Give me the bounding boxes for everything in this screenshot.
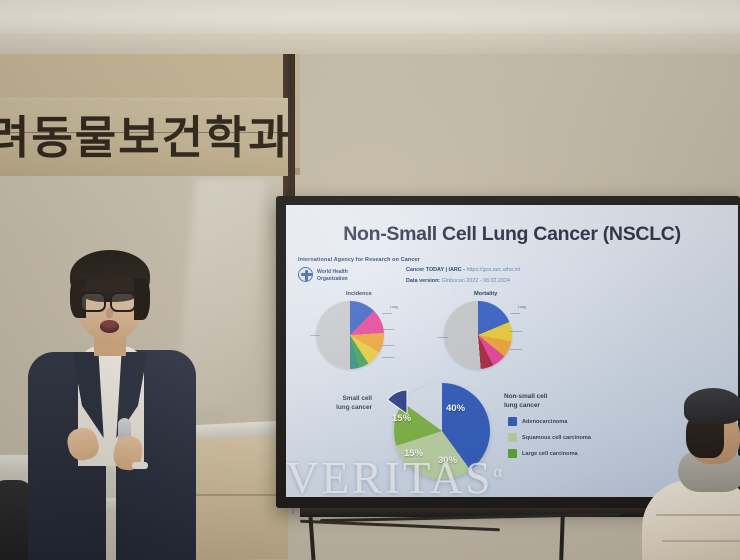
pie-value-squamous: 30% — [438, 455, 457, 466]
legend-color-swatch — [508, 433, 517, 442]
department-banner-text: 려동물보건학과 — [0, 115, 288, 160]
leader-line — [438, 337, 448, 338]
source-url: https://gco.iarc.who.int — [466, 267, 520, 273]
slide-title: Non-Small Cell Lung Cancer (NSCLC) — [296, 223, 728, 246]
leader-line — [510, 313, 520, 314]
leader-line — [510, 349, 522, 350]
presenter-eyebrow-right — [112, 287, 134, 290]
leader-line — [382, 357, 394, 358]
who-organization-name: World Health Organization — [317, 269, 348, 283]
jacket-seam — [662, 540, 740, 542]
jacket-seam — [656, 514, 740, 516]
pie-chart-incidence — [316, 301, 384, 369]
legend-color-swatch — [508, 417, 517, 426]
incidence-callout-lung: Lung — [390, 305, 398, 309]
presenter-eyebrow-left — [81, 287, 103, 290]
legend-item: Squamous cell carcinoma — [508, 433, 591, 442]
mortality-callout-lung: Lung — [518, 305, 526, 309]
chart-legend: AdenocarcinomaSquamous cell carcinomaLar… — [508, 417, 591, 465]
leader-line — [382, 313, 392, 314]
presenter-wristwatch — [132, 462, 148, 469]
glasses-bridge-icon — [106, 299, 111, 302]
leader-line — [310, 335, 320, 336]
presenter — [22, 240, 202, 560]
ceiling — [0, 0, 740, 38]
legend-item: Adenocarcinoma — [508, 417, 591, 426]
data-version-label: Data version: — [406, 278, 440, 284]
legend-label: Adenocarcinoma — [522, 419, 567, 425]
who-emblem-icon — [298, 267, 313, 282]
who-name-line1: World Health — [317, 269, 348, 276]
pie-value-large-cell: 15% — [404, 448, 423, 459]
presenter-nose — [106, 308, 113, 318]
leader-line — [382, 329, 394, 330]
audience-beanie — [684, 388, 740, 424]
chart-title-mortality: Mortality — [474, 291, 497, 297]
banner-wire — [0, 132, 292, 133]
legend-item: Large cell carcinoma — [508, 449, 591, 458]
department-banner: 려동물보건학과 — [0, 98, 288, 176]
source-label: Cancer TODAY | IARC - — [406, 267, 465, 273]
lecture-hall-photo: 려동물보건학과 N — [0, 0, 740, 560]
leader-line — [510, 331, 522, 332]
who-name-line2: Organization — [317, 276, 348, 283]
label-non-small-cell-lung-cancer: Non-small celllung cancer — [504, 393, 547, 411]
pie-value-small-cell: 15% — [392, 413, 411, 424]
legend-color-swatch — [508, 449, 517, 458]
ceiling-cove-light — [0, 34, 740, 56]
data-version-line: Data version: Globocan 2022 - 08.02.2024 — [406, 278, 510, 284]
pie-chart-mortality — [444, 301, 512, 369]
audience-member — [636, 388, 740, 560]
leader-line — [382, 345, 394, 346]
audience-puffer-jacket — [642, 480, 740, 560]
legend-label: Squamous cell carcinoma — [522, 435, 591, 441]
wall-right-upper — [295, 54, 740, 204]
data-version-value: Globocan 2022 - 08.02.2024 — [442, 278, 510, 284]
glasses-lens-left-icon — [80, 292, 106, 312]
iarc-header: International Agency for Research on Can… — [298, 257, 420, 263]
label-small-cell-lung-cancer: Small celllung cancer — [306, 395, 372, 413]
presenter-hair-right — [134, 278, 150, 320]
pie-value-adenocarcinoma: 40% — [446, 403, 465, 414]
legend-label: Large cell carcinoma — [522, 451, 578, 457]
chart-title-incidence: Incidence — [346, 291, 372, 297]
presenter-mouth — [100, 320, 119, 333]
glasses-lens-right-icon — [110, 292, 136, 312]
source-attribution: Cancer TODAY | IARC - https://gco.iarc.w… — [406, 267, 520, 273]
